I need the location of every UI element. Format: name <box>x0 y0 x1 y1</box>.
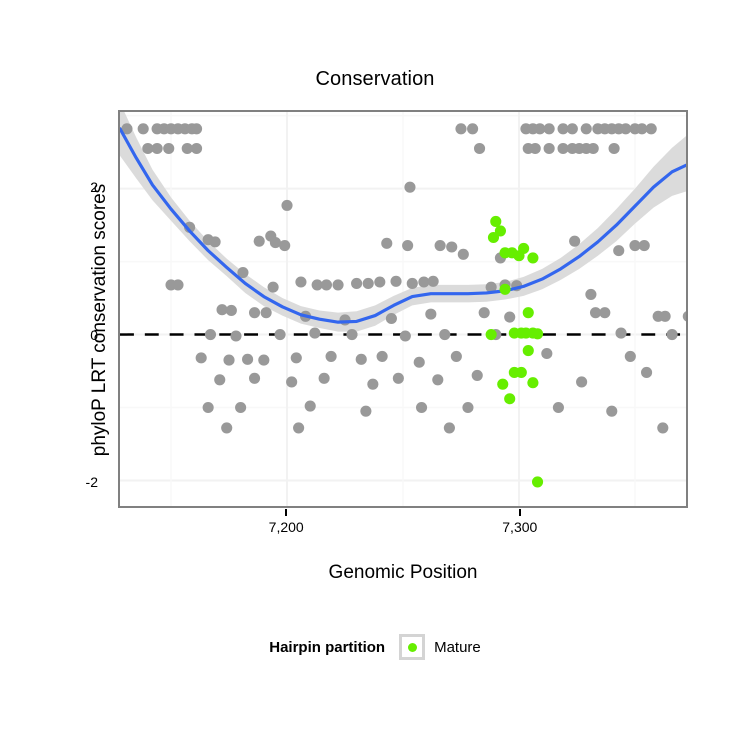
plot-panel <box>118 110 688 508</box>
x-tick-mark <box>285 509 287 516</box>
legend-entry-label: Mature <box>434 639 481 656</box>
x-axis-title: Genomic Position <box>118 562 688 584</box>
plot-area-svg <box>120 112 686 506</box>
x-tick-mark <box>519 509 521 516</box>
x-tick-label: 7,300 <box>480 519 560 535</box>
legend-key-box <box>399 634 425 660</box>
legend-marker-icon <box>408 643 417 652</box>
legend-entry-mature[interactable]: Mature <box>399 634 481 660</box>
scatter-points-mature <box>486 216 544 488</box>
legend: Hairpin partition Mature <box>0 634 750 660</box>
conservation-chart-figure: Conservation phyloP LRT conservation sco… <box>0 0 750 750</box>
legend-title: Hairpin partition <box>269 639 385 656</box>
x-tick-label: 7,200 <box>246 519 326 535</box>
